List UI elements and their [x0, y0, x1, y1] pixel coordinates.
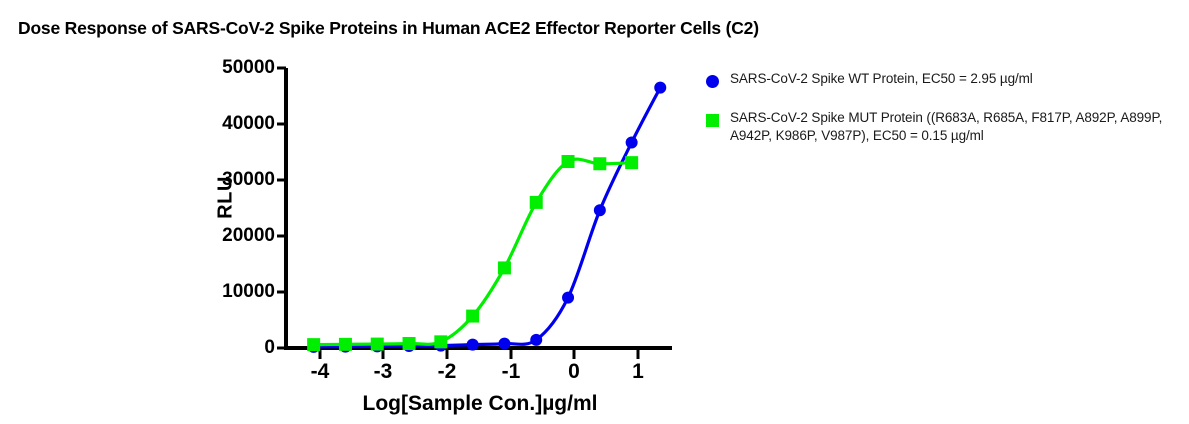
data-point: [530, 334, 542, 346]
legend-entry-wt: SARS-CoV-2 Spike WT Protein, EC50 = 2.95…: [694, 70, 1184, 89]
chart-figure: Dose Response of SARS-CoV-2 Spike Protei…: [0, 0, 1189, 424]
y-axis-title: RLU: [215, 158, 238, 238]
ytick-label-40000: 40000: [185, 113, 275, 135]
data-point: [371, 338, 384, 351]
data-series-layer: [307, 82, 666, 353]
data-point: [339, 338, 352, 351]
data-point: [626, 136, 638, 148]
data-point: [467, 339, 479, 351]
series-wt: [308, 82, 667, 353]
data-point: [594, 204, 606, 216]
ytick-label-50000: 50000: [185, 57, 275, 79]
xtick-label-1: 1: [618, 360, 658, 384]
xtick-label-neg4: -4: [300, 360, 340, 384]
data-point: [562, 292, 574, 304]
legend-label-mut: SARS-CoV-2 Spike MUT Protein ((R683A, R6…: [730, 109, 1184, 146]
xtick-label-neg3: -3: [363, 360, 403, 384]
xtick-label-neg2: -2: [427, 360, 467, 384]
plot-area: 0 10000 20000 30000 40000 50000 -4 -3 -2…: [0, 0, 700, 424]
data-point: [403, 337, 416, 350]
xtick-label-neg1: -1: [491, 360, 531, 384]
xtick-label-0: 0: [554, 360, 594, 384]
data-point: [562, 155, 575, 168]
data-point: [593, 157, 606, 170]
data-point: [654, 82, 666, 94]
x-axis-title: Log[Sample Con.]µg/ml: [280, 392, 680, 416]
legend-label-wt: SARS-CoV-2 Spike WT Protein, EC50 = 2.95…: [730, 70, 1033, 89]
ytick-label-0: 0: [185, 337, 275, 359]
data-point: [307, 338, 320, 351]
series-mut: [307, 155, 638, 351]
data-point: [466, 310, 479, 323]
data-point: [498, 261, 511, 274]
data-point: [625, 156, 638, 169]
chart-legend: SARS-CoV-2 Spike WT Protein, EC50 = 2.95…: [694, 70, 1184, 146]
series-line: [314, 88, 661, 347]
data-point: [498, 338, 510, 350]
data-point: [434, 335, 447, 348]
plot-svg: [0, 0, 700, 424]
circle-marker-icon: [694, 70, 730, 88]
square-marker-icon: [694, 109, 730, 127]
ytick-label-10000: 10000: [185, 281, 275, 303]
data-point: [530, 196, 543, 209]
legend-entry-mut: SARS-CoV-2 Spike MUT Protein ((R683A, R6…: [694, 109, 1184, 146]
